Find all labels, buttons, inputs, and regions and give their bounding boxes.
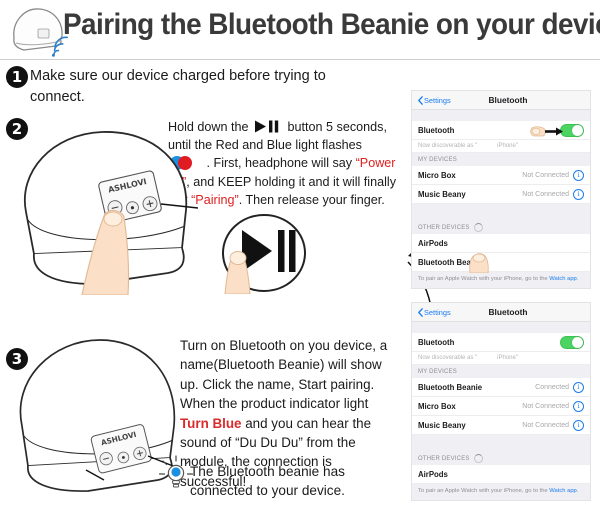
panel1-title: Bluetooth (412, 95, 590, 105)
scanning-spinner-icon (474, 223, 483, 232)
panel1-spacer-top (412, 110, 590, 121)
panel2-device-row-airpods[interactable]: AirPods (412, 465, 590, 484)
conclusion-text: The Bluetooth beanie has connected to yo… (190, 462, 405, 500)
device-name: Micro Box (418, 171, 456, 180)
device-status: Not Connected (522, 191, 569, 198)
beanie-illustration-bottom: ASHLOVI (8, 330, 183, 500)
infographic-root: Pairing the Bluetooth Beanie on your dev… (0, 0, 600, 502)
play-pause-icon (255, 120, 281, 133)
panel1-bluetooth-row[interactable]: Bluetooth (412, 121, 590, 140)
panel1-discoverable-prefix: Now discoverable as " (418, 143, 477, 149)
panel1-discoverable-device: iPhone" (497, 143, 518, 149)
device-status: Not Connected (522, 172, 569, 179)
hand-tap-icon (468, 251, 492, 273)
panel2-bluetooth-label: Bluetooth (418, 338, 454, 347)
device-status: Connected (535, 384, 569, 391)
step-3-highlight-turn-blue: Turn Blue (180, 416, 242, 431)
device-name: Micro Box (418, 402, 456, 411)
other-devices-label: OTHER DEVICES (418, 456, 470, 462)
panel1-device-row-bluetooth-beanie[interactable]: Bluetooth Beanie (412, 253, 590, 272)
watch-app-link[interactable]: Watch app (549, 488, 577, 494)
panel1-discoverable-note: Now discoverable as " iPhone" (412, 140, 590, 153)
bluetooth-settings-panel-after: Settings Bluetooth Bluetooth Now discove… (411, 302, 591, 501)
device-status: Not Connected (522, 403, 569, 410)
panel2-device-row-bluetooth-beanie[interactable]: Bluetooth Beanie Connected i (412, 378, 590, 397)
info-icon[interactable]: i (573, 420, 584, 431)
other-devices-label: OTHER DEVICES (418, 225, 470, 231)
device-name: Music Beany (418, 190, 466, 199)
page-title: Pairing the Bluetooth Beanie on your dev… (63, 8, 528, 52)
beanie-illustration-top: ASHLOVI (18, 120, 198, 295)
panel1-navbar: Settings Bluetooth (412, 91, 590, 110)
info-icon[interactable]: i (573, 170, 584, 181)
panel2-bluetooth-row[interactable]: Bluetooth (412, 333, 590, 352)
scanning-spinner-icon (474, 454, 483, 463)
panel1-device-row-airpods[interactable]: AirPods (412, 234, 590, 253)
blue-led-glow-icon (158, 455, 194, 491)
play-pause-press-illustration (208, 212, 320, 294)
watch-app-link[interactable]: Watch app (549, 276, 577, 282)
panel1-my-devices-header: MY DEVICES (412, 153, 590, 166)
panel2-discoverable-device: iPhone" (497, 355, 518, 361)
panel2-spacer-mid (412, 435, 590, 452)
step-1-text: Make sure our device charged before tryi… (30, 66, 375, 108)
panel2-footer-suffix: . (577, 488, 579, 494)
panel2-discoverable-prefix: Now discoverable as " (418, 355, 477, 361)
panel2-title: Bluetooth (412, 307, 590, 317)
panel1-footer-suffix: . (577, 276, 579, 282)
device-name: AirPods (418, 470, 448, 479)
panel2-other-devices-header: OTHER DEVICES (412, 452, 590, 465)
panel2-device-row-micro-box[interactable]: Micro Box Not Connected i (412, 397, 590, 416)
info-icon[interactable]: i (573, 382, 584, 393)
panel2-navbar: Settings Bluetooth (412, 303, 590, 322)
bluetooth-settings-panel-before: Settings Bluetooth Bluetooth Now discove… (411, 90, 591, 289)
info-icon[interactable]: i (573, 189, 584, 200)
step-1-badge: 1 (6, 66, 28, 88)
panel2-device-row-music-beany[interactable]: Music Beany Not Connected i (412, 416, 590, 435)
panel1-footer-prefix: To pair an Apple Watch with your iPhone,… (418, 276, 549, 282)
panel1-spacer-mid (412, 204, 590, 221)
panel2-bluetooth-toggle[interactable] (560, 336, 584, 349)
device-status: Not Connected (522, 422, 569, 429)
panel1-footer: To pair an Apple Watch with your iPhone,… (412, 272, 590, 288)
hand-pointer-icon (530, 123, 564, 140)
panel1-device-row-music-beany[interactable]: Music Beany Not Connected i (412, 185, 590, 204)
panel2-footer-prefix: To pair an Apple Watch with your iPhone,… (418, 488, 549, 494)
device-name: AirPods (418, 239, 448, 248)
info-icon[interactable]: i (573, 401, 584, 412)
step-2-highlight-pairing: “Pairing” (191, 193, 239, 207)
device-name: Music Beany (418, 421, 466, 430)
panel2-footer: To pair an Apple Watch with your iPhone,… (412, 484, 590, 500)
panel2-my-devices-header: MY DEVICES (412, 365, 590, 378)
panel2-discoverable-note: Now discoverable as " iPhone" (412, 352, 590, 365)
device-name: Bluetooth Beanie (418, 383, 482, 392)
panel1-device-row-micro-box[interactable]: Micro Box Not Connected i (412, 166, 590, 185)
header-divider (0, 59, 600, 60)
panel1-bluetooth-label: Bluetooth (418, 126, 454, 135)
panel2-spacer-top (412, 322, 590, 333)
panel1-other-devices-header: OTHER DEVICES (412, 221, 590, 234)
